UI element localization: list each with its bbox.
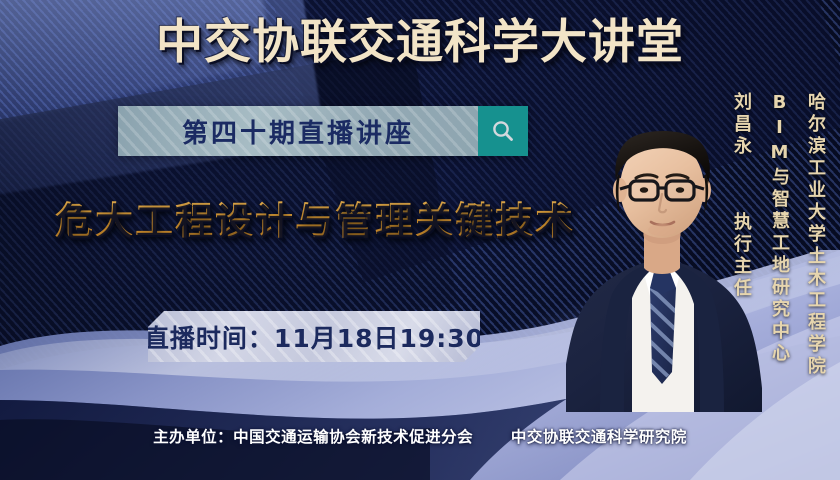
episode-banner-body: 第四十期直播讲座 — [118, 106, 478, 156]
broadcast-time-banner: 直播时间：11月18日19:30 — [148, 311, 480, 362]
page-title: 中交协联交通科学大讲堂 — [0, 18, 840, 67]
search-icon — [490, 118, 516, 144]
episode-label: 第四十期直播讲座 — [182, 113, 414, 150]
search-button[interactable] — [478, 106, 528, 156]
lecture-title: 危大工程设计与管理关键技术 — [55, 190, 575, 245]
speaker-name: 刘昌永 — [728, 92, 754, 158]
footer-co-organizer: 中交协联交通科学研究院 — [511, 428, 687, 446]
speaker-center: BIM与智慧工地研究中心 — [766, 92, 792, 365]
footer: 主办单位：中国交通运输协会新技术促进分会 中交协联交通科学研究院 — [0, 425, 840, 447]
broadcast-time-label: 直播时间：11月18日19:30 — [148, 319, 480, 355]
episode-banner: 第四十期直播讲座 — [118, 106, 528, 156]
speaker-affiliation: 哈尔滨工业大学土木工程学院 — [802, 92, 828, 378]
speaker-role: 执行主任 — [728, 212, 754, 300]
footer-organizer: 主办单位：中国交通运输协会新技术促进分会 — [153, 428, 473, 446]
webinar-poster: 中交协联交通科学大讲堂 第四十期直播讲座 危大工程设计与管理关键技术 直播时间：… — [0, 0, 840, 480]
